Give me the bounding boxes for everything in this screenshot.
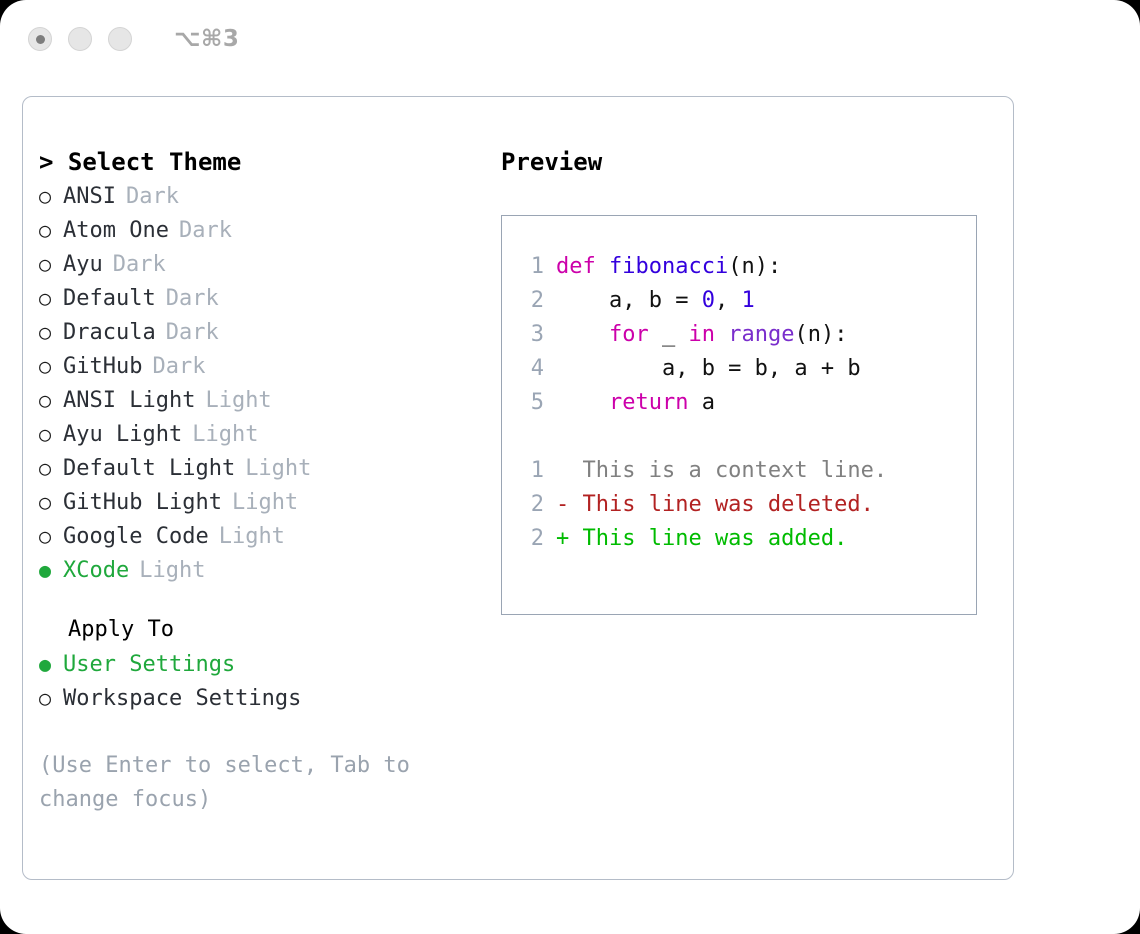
theme-column: > Select Theme ○ANSIDark○Atom OneDark○Ay…	[39, 145, 479, 817]
theme-kind-label: Light	[205, 384, 271, 418]
theme-name-label: Default	[63, 282, 156, 316]
code-token: range	[728, 322, 794, 347]
theme-name-label: Default Light	[63, 452, 235, 486]
code-token: a, b = b, a + b	[556, 356, 861, 381]
line-number: 1	[502, 250, 556, 284]
theme-kind-label: Dark	[179, 214, 232, 248]
apply-to-label: Workspace Settings	[63, 682, 301, 716]
theme-name-label: GitHub	[63, 350, 142, 384]
theme-list-item[interactable]: ○ANSIDark	[39, 179, 479, 213]
theme-list-item[interactable]: ○DraculaDark	[39, 315, 479, 349]
theme-list-item[interactable]: ○ANSI LightLight	[39, 383, 479, 417]
radio-unselected-icon: ○	[39, 281, 63, 315]
code-line: 1def fibonacci(n):	[502, 250, 976, 284]
code-token: + This line was added.	[556, 526, 847, 551]
code-token: ,	[715, 288, 742, 313]
line-number: 2	[502, 284, 556, 318]
diff-sample: 1 This is a context line.2- This line wa…	[502, 454, 976, 556]
code-token: for	[609, 322, 649, 347]
radio-unselected-icon: ○	[39, 213, 63, 247]
window-controls	[28, 27, 132, 51]
code-line: 5 return a	[502, 386, 976, 420]
radio-selected-icon: ●	[39, 647, 63, 681]
select-theme-heading: > Select Theme	[39, 145, 479, 179]
code-token: This is a context line.	[556, 458, 887, 483]
panel-columns: > Select Theme ○ANSIDark○Atom OneDark○Ay…	[23, 97, 1013, 879]
radio-unselected-icon: ○	[39, 315, 63, 349]
code-token: _	[649, 322, 689, 347]
theme-selector-panel: > Select Theme ○ANSIDark○Atom OneDark○Ay…	[22, 96, 1014, 880]
code-token: fibonacci	[609, 254, 728, 279]
theme-name-label: XCode	[63, 554, 129, 588]
line-number: 2	[502, 488, 556, 522]
code-token: a	[688, 390, 715, 415]
code-line: 2+ This line was added.	[502, 522, 976, 556]
theme-name-label: GitHub Light	[63, 486, 222, 520]
radio-unselected-icon: ○	[39, 383, 63, 417]
code-token: a, b =	[556, 288, 702, 313]
theme-name-label: Google Code	[63, 520, 209, 554]
radio-unselected-icon: ○	[39, 681, 63, 715]
window-minimize-button[interactable]	[68, 27, 92, 51]
apply-to-option[interactable]: ●User Settings	[39, 647, 479, 681]
keyboard-hint-text: (Use Enter to select, Tab to change focu…	[39, 749, 439, 817]
apply-to-label: User Settings	[63, 648, 235, 682]
theme-list-item[interactable]: ○Google CodeLight	[39, 519, 479, 553]
code-token: 1	[741, 288, 754, 313]
theme-list-item[interactable]: ○Ayu LightLight	[39, 417, 479, 451]
theme-list-item[interactable]: ○Default LightLight	[39, 451, 479, 485]
code-token: (n):	[728, 254, 781, 279]
code-token: def	[556, 254, 609, 279]
theme-kind-label: Light	[232, 486, 298, 520]
theme-list-item[interactable]: ○Atom OneDark	[39, 213, 479, 247]
code-text: + This line was added.	[556, 522, 847, 556]
theme-name-label: Ayu Light	[63, 418, 182, 452]
keyboard-shortcut-label: ⌥⌘3	[174, 26, 239, 52]
code-line: 2- This line was deleted.	[502, 488, 976, 522]
theme-list-item[interactable]: ○AyuDark	[39, 247, 479, 281]
code-text: return a	[556, 386, 715, 420]
code-token	[556, 390, 609, 415]
radio-unselected-icon: ○	[39, 485, 63, 519]
theme-kind-label: Dark	[166, 316, 219, 350]
theme-kind-label: Dark	[113, 248, 166, 282]
theme-list[interactable]: ○ANSIDark○Atom OneDark○AyuDark○DefaultDa…	[39, 179, 479, 587]
code-text: a, b = b, a + b	[556, 352, 861, 386]
preview-box: 1def fibonacci(n):2 a, b = 0, 13 for _ i…	[501, 215, 977, 615]
theme-kind-label: Dark	[152, 350, 205, 384]
code-sample: 1def fibonacci(n):2 a, b = 0, 13 for _ i…	[502, 250, 976, 420]
theme-list-item[interactable]: ○GitHub LightLight	[39, 485, 479, 519]
radio-unselected-icon: ○	[39, 417, 63, 451]
theme-list-item[interactable]: ●XCodeLight	[39, 553, 479, 587]
apply-to-heading: Apply To	[39, 613, 479, 647]
radio-selected-icon: ●	[39, 553, 63, 587]
radio-unselected-icon: ○	[39, 179, 63, 213]
radio-unselected-icon: ○	[39, 519, 63, 553]
line-number: 5	[502, 386, 556, 420]
code-token: (n):	[794, 322, 847, 347]
code-text: for _ in range(n):	[556, 318, 847, 352]
active-indicator-dot	[36, 35, 45, 44]
theme-name-label: Atom One	[63, 214, 169, 248]
line-number: 4	[502, 352, 556, 386]
theme-kind-label: Light	[139, 554, 205, 588]
code-text: def fibonacci(n):	[556, 250, 781, 284]
theme-name-label: Ayu	[63, 248, 103, 282]
theme-name-label: Dracula	[63, 316, 156, 350]
theme-kind-label: Light	[245, 452, 311, 486]
apply-to-option[interactable]: ○Workspace Settings	[39, 681, 479, 715]
app-window: ⌥⌘3 > Select Theme ○ANSIDark○Atom OneDar…	[0, 0, 1140, 934]
theme-list-item[interactable]: ○DefaultDark	[39, 281, 479, 315]
theme-kind-label: Light	[219, 520, 285, 554]
code-line: 3 for _ in range(n):	[502, 318, 976, 352]
theme-name-label: ANSI Light	[63, 384, 195, 418]
code-line: 1 This is a context line.	[502, 454, 976, 488]
theme-name-label: ANSI	[63, 180, 116, 214]
code-line: 2 a, b = 0, 1	[502, 284, 976, 318]
radio-unselected-icon: ○	[39, 349, 63, 383]
code-token: 0	[702, 288, 715, 313]
preview-heading: Preview	[501, 145, 1001, 179]
code-token: - This line was deleted.	[556, 492, 874, 517]
line-number: 3	[502, 318, 556, 352]
apply-to-section: Apply To ●User Settings○Workspace Settin…	[39, 613, 479, 715]
theme-kind-label: Dark	[166, 282, 219, 316]
code-token: in	[688, 322, 715, 347]
code-text: - This line was deleted.	[556, 488, 874, 522]
code-text: a, b = 0, 1	[556, 284, 755, 318]
radio-unselected-icon: ○	[39, 451, 63, 485]
line-number: 2	[502, 522, 556, 556]
theme-list-item[interactable]: ○GitHubDark	[39, 349, 479, 383]
window-maximize-button[interactable]	[108, 27, 132, 51]
preview-column: Preview 1def fibonacci(n):2 a, b = 0, 13…	[501, 145, 1001, 615]
radio-unselected-icon: ○	[39, 247, 63, 281]
code-token: return	[609, 390, 688, 415]
apply-to-list[interactable]: ●User Settings○Workspace Settings	[39, 647, 479, 715]
window-close-button[interactable]	[28, 27, 52, 51]
code-spacer	[502, 420, 976, 454]
code-token	[715, 322, 728, 347]
code-token	[556, 322, 609, 347]
title-bar: ⌥⌘3	[0, 0, 1140, 78]
theme-kind-label: Dark	[126, 180, 179, 214]
code-line: 4 a, b = b, a + b	[502, 352, 976, 386]
theme-kind-label: Light	[192, 418, 258, 452]
code-text: This is a context line.	[556, 454, 887, 488]
line-number: 1	[502, 454, 556, 488]
